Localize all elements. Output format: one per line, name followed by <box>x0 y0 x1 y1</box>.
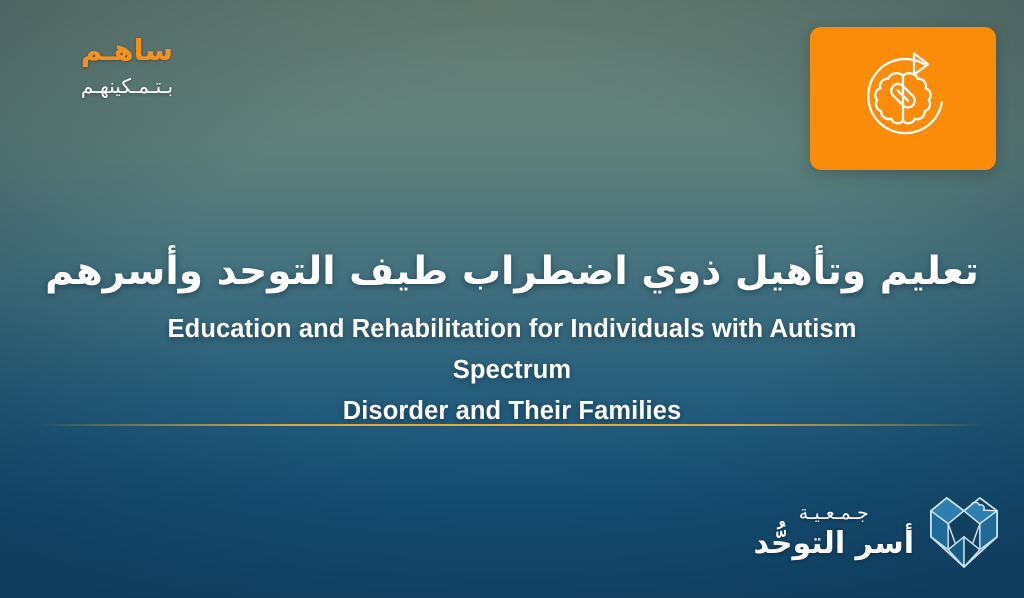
title-english-line-1: Education and Rehabilitation for Individ… <box>162 309 862 392</box>
campaign-primary-label: ساهـم <box>42 36 212 65</box>
heart-puzzle-logo <box>928 492 1000 570</box>
title-english: Education and Rehabilitation for Individ… <box>162 309 862 433</box>
promotional-banner: ساهـم بـتـمـكينهـم تعليم وتأهيل ذوي اضطر <box>0 0 1024 598</box>
title-english-line-2: Disorder and Their Families <box>162 391 862 432</box>
title-arabic: تعليم وتأهيل ذوي اضطراب طيف التوحد وأسره… <box>34 248 990 297</box>
campaign-lockup: ساهـم بـتـمـكينهـم <box>42 36 212 96</box>
campaign-secondary-label: بـتـمـكينهـم <box>42 76 212 96</box>
organization-name-line-2: أسر التوحُّد <box>754 529 914 559</box>
brain-rehabilitation-icon-card <box>810 27 996 170</box>
organization-name-line-1: جـمـعـيـة <box>754 504 914 523</box>
organization-logo: جـمـعـيـة أسر التوحُّد <box>754 492 1000 570</box>
headline-block: تعليم وتأهيل ذوي اضطراب طيف التوحد وأسره… <box>0 248 1024 433</box>
gold-divider <box>40 424 984 426</box>
organization-logo-text: جـمـعـيـة أسر التوحُّد <box>754 504 914 559</box>
brain-rehabilitation-icon <box>850 46 956 152</box>
